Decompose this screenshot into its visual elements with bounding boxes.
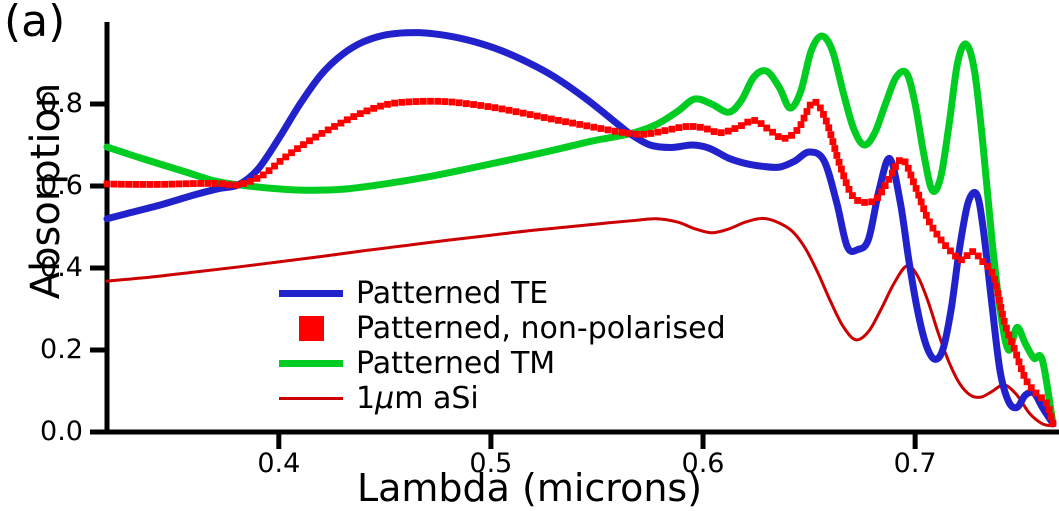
figure-panel: (a) Absorption Lambda (microns) 0.00.20.…: [0, 0, 1059, 511]
legend-label: Patterned TE: [350, 276, 548, 311]
legend-item[interactable]: Patterned TE: [272, 276, 712, 311]
legend-item[interactable]: 1μm aSi: [272, 381, 712, 416]
legend-item[interactable]: Patterned, non-polarised: [272, 311, 712, 346]
legend: Patterned TEPatterned, non-polarisedPatt…: [272, 276, 712, 416]
legend-swatch-icon: [272, 316, 350, 341]
legend-swatch-icon: [272, 290, 350, 297]
legend-label: Patterned TM: [350, 346, 555, 381]
legend-label: 1μm aSi: [350, 381, 479, 416]
legend-swatch-icon: [272, 397, 350, 400]
plot-area: [0, 0, 1059, 511]
legend-item[interactable]: Patterned TM: [272, 346, 712, 381]
legend-swatch-icon: [272, 360, 350, 367]
legend-label: Patterned, non-polarised: [350, 311, 726, 346]
